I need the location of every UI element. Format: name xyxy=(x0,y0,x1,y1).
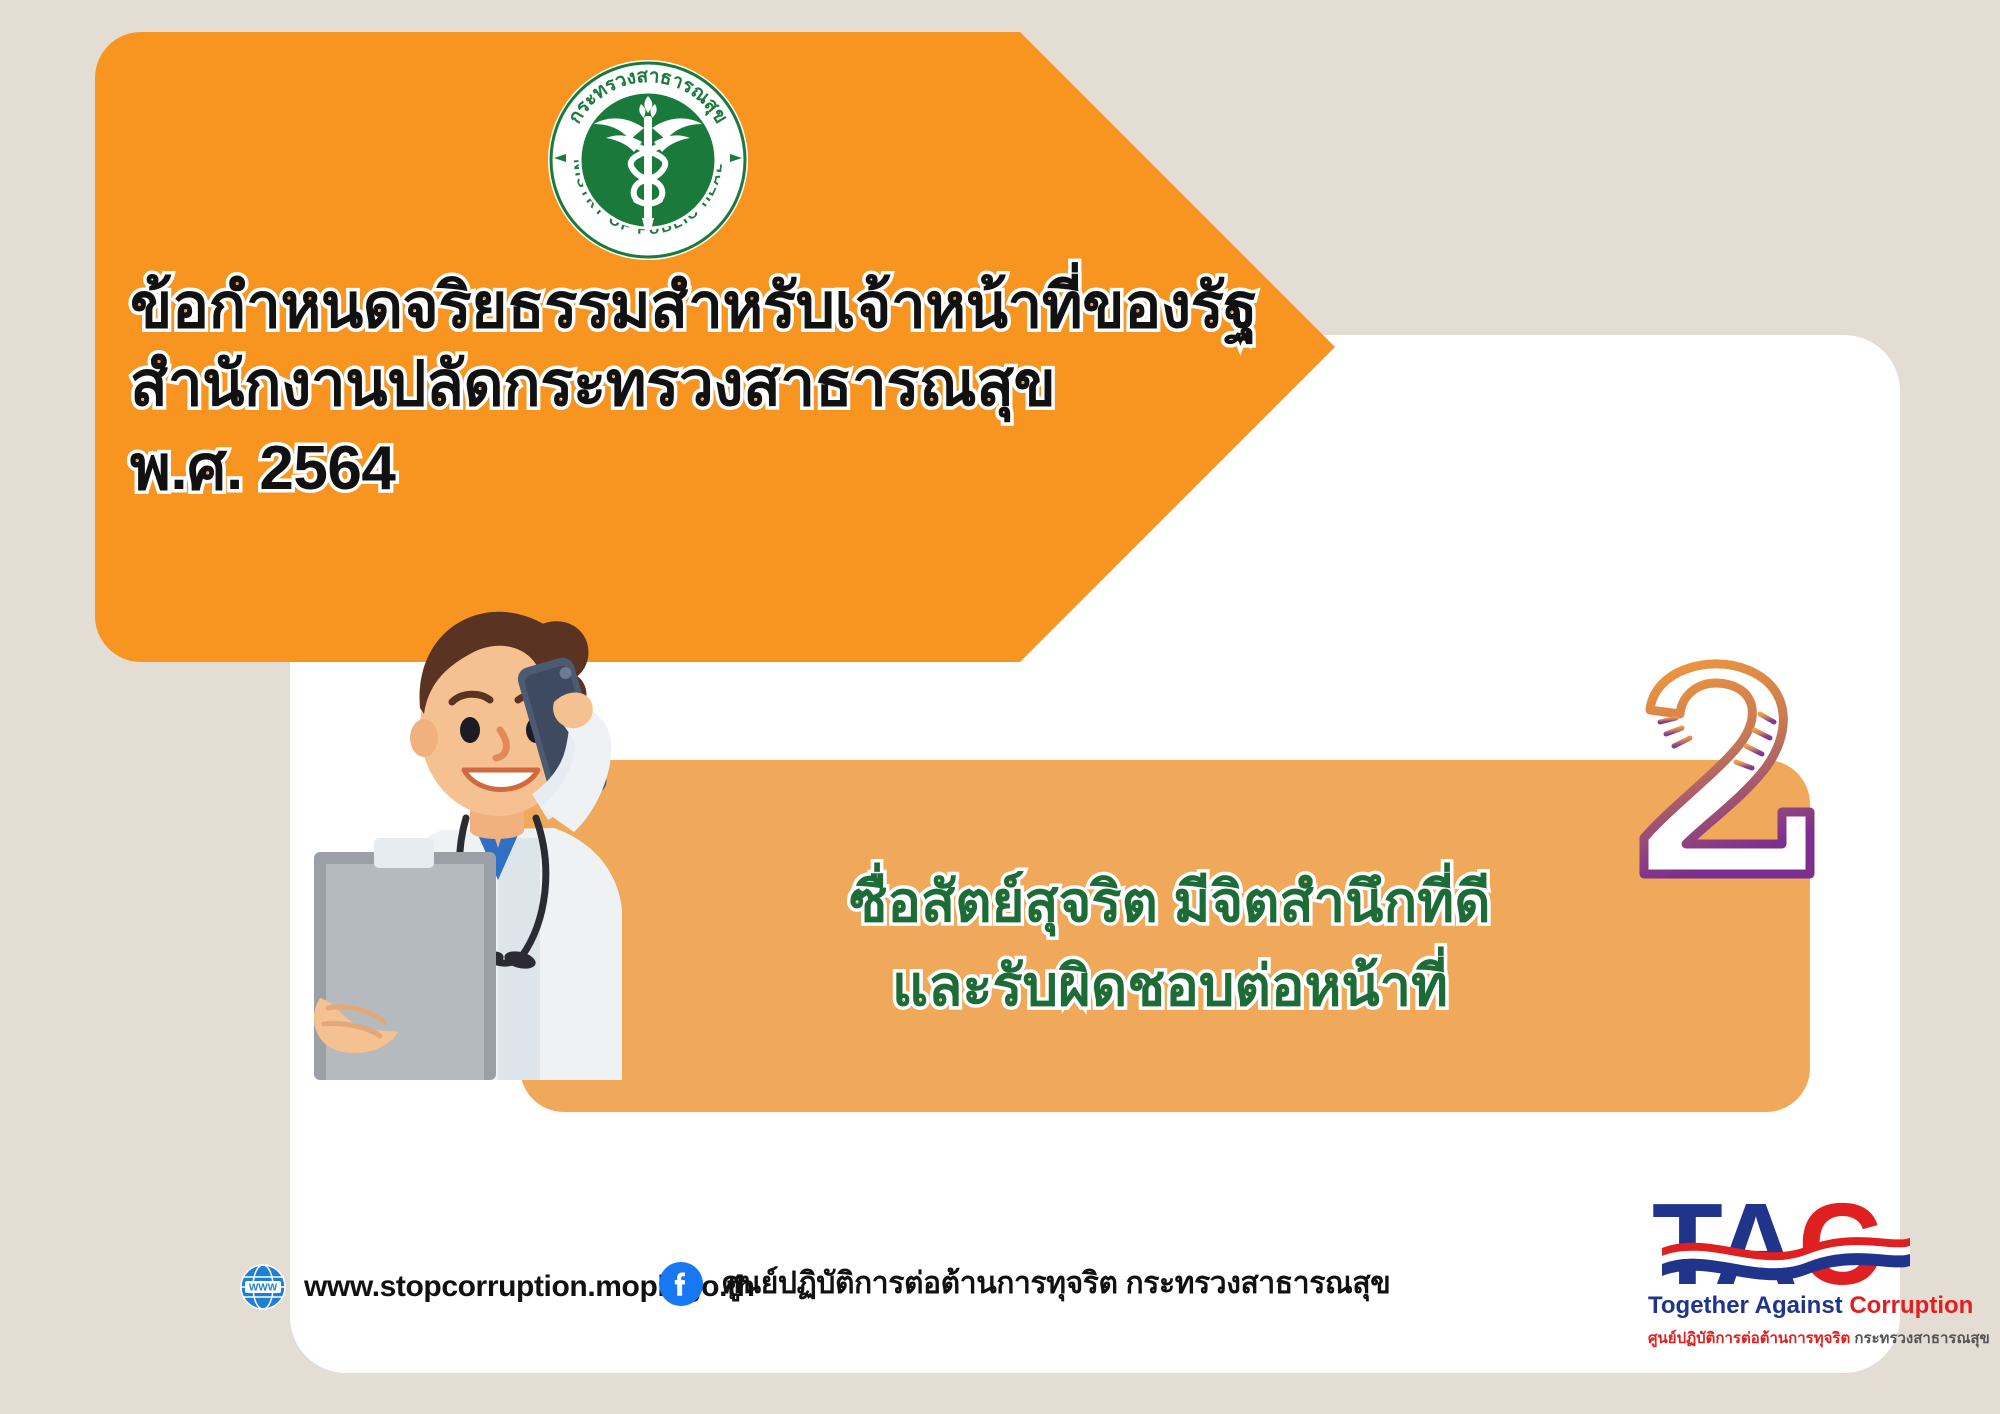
title-line-1: ข้อกำหนดจริยธรรมสำหรับเจ้าหน้าที่ของรัฐ xyxy=(130,268,1310,346)
footer: WWW www.stopcorruption.moph.go.th ศูนย์ป… xyxy=(240,1250,1640,1336)
message-text: ซื่อสัตย์สุจริต มีจิตสำนึกที่ดี และรับผิ… xyxy=(540,860,1800,1028)
doctor-on-phone-illustration xyxy=(292,580,712,1080)
tac-thai-gray: กระทรวงสาธารณสุข xyxy=(1854,1330,1989,1347)
poster-canvas: กระทรวงสาธารณสุข MINISTRY OF PUBLIC HEAL… xyxy=(0,0,2000,1414)
facebook-link[interactable]: ศูนย์ปฏิบัติการต่อต้านการทุจริต กระทรวงส… xyxy=(658,1260,1390,1307)
svg-text:T: T xyxy=(1652,1186,1723,1298)
svg-text:WWW: WWW xyxy=(249,1283,278,1294)
tac-logo: T A C Together Against Corruption ศูนย์ป… xyxy=(1648,1186,1920,1358)
poster-title: ข้อกำหนดจริยธรรมสำหรับเจ้าหน้าที่ของรัฐ … xyxy=(130,268,1310,508)
item-number-badge xyxy=(1614,648,1844,888)
title-line-3-year: พ.ศ. 2564 xyxy=(130,424,1310,508)
tac-tagline: Together Against Corruption xyxy=(1648,1292,1920,1320)
tac-thai-subtitle: ศูนย์ปฏิบัติการต่อต้านการทุจริต กระทรวงส… xyxy=(1648,1326,1920,1350)
tac-thai-red: ศูนย์ปฏิบัติการต่อต้านการทุจริต xyxy=(1648,1330,1854,1347)
svg-text:A: A xyxy=(1714,1186,1798,1298)
facebook-label: ศูนย์ปฏิบัติการต่อต้านการทุจริต กระทรวงส… xyxy=(722,1260,1390,1307)
globe-www-icon: WWW xyxy=(240,1264,286,1310)
facebook-icon xyxy=(658,1261,704,1307)
title-line-2: สำนักงานปลัดกระทรวงสาธารณสุข xyxy=(130,346,1310,424)
ministry-of-public-health-seal-icon: กระทรวงสาธารณสุข MINISTRY OF PUBLIC HEAL… xyxy=(546,58,750,262)
message-line-1: ซื่อสัตย์สุจริต มีจิตสำนึกที่ดี xyxy=(540,860,1800,944)
tac-tagline-blue: Together Against xyxy=(1648,1292,1849,1319)
tac-tagline-red: Corruption xyxy=(1849,1292,1973,1319)
tac-letters-icon: T A C xyxy=(1648,1186,1920,1298)
message-line-2: และรับผิดชอบต่อหน้าที่ xyxy=(540,944,1800,1028)
